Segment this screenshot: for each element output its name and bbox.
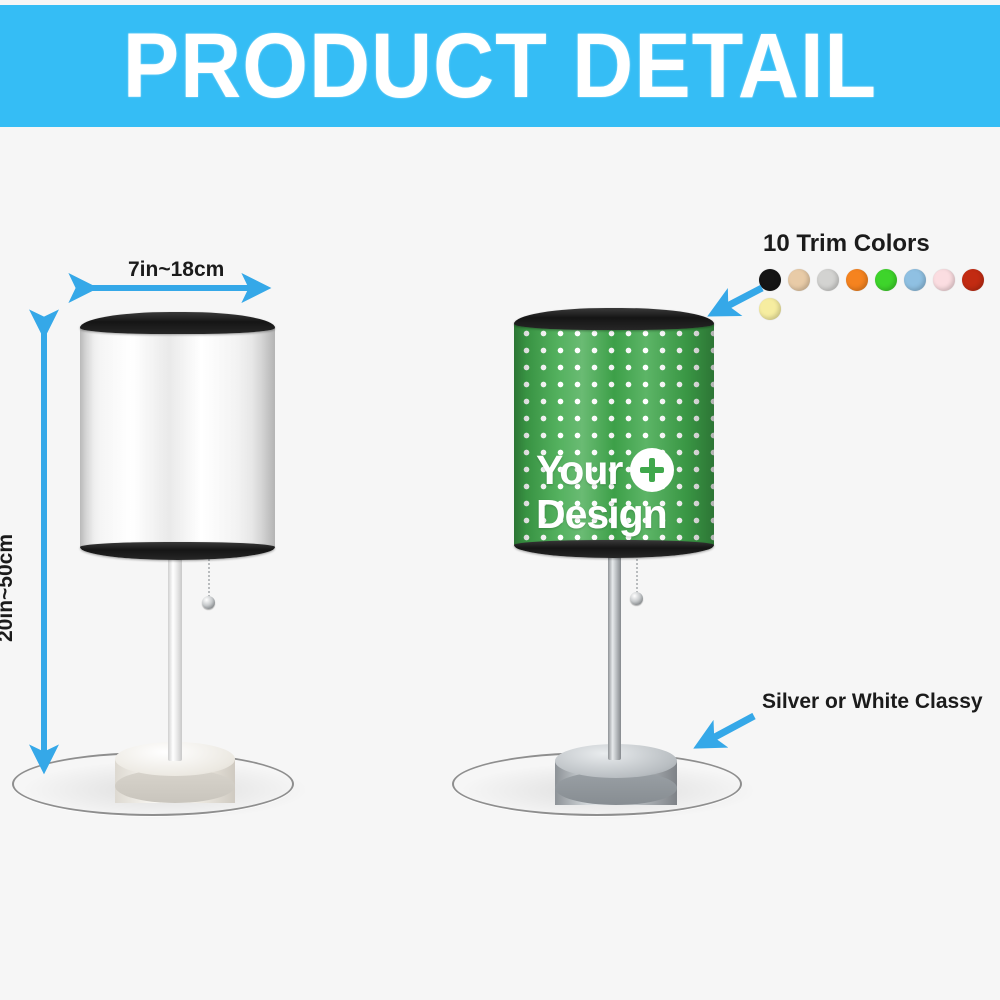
white-shade-trim-top — [80, 312, 275, 334]
shade-highlight — [80, 322, 275, 552]
green-lamp-pull-chain[interactable] — [636, 552, 638, 596]
white-shade-body — [80, 322, 275, 552]
green-shade-trim-bottom — [514, 540, 714, 558]
base-note-label: Silver or White Classy — [762, 690, 983, 714]
green-shade-trim-top — [514, 308, 714, 330]
green-lamp-pole — [608, 552, 621, 760]
white-lamp-pole — [168, 556, 182, 761]
white-lamp-shade — [80, 312, 275, 560]
height-measurement-label: 20in~50cm — [0, 534, 18, 642]
swatch-tan[interactable] — [788, 269, 810, 291]
width-measurement-label: 7in~18cm — [128, 258, 224, 282]
swatch-pink[interactable] — [933, 269, 955, 291]
trim-colors-title: 10 Trim Colors — [763, 230, 930, 258]
swatch-green[interactable] — [875, 269, 897, 291]
swatch-black[interactable] — [759, 269, 781, 291]
swatch-yellow[interactable] — [759, 298, 781, 320]
white-lamp-chain-bead[interactable] — [202, 596, 215, 609]
green-lamp-chain-bead[interactable] — [630, 592, 643, 605]
swatch-light-blue[interactable] — [904, 269, 926, 291]
swatch-dark-red[interactable] — [962, 269, 984, 291]
white-lamp — [0, 0, 330, 1000]
product-detail-image: PRODUCT DETAIL — [0, 0, 1000, 1000]
white-lamp-pull-chain[interactable] — [208, 556, 210, 600]
trim-color-swatches — [759, 269, 1000, 320]
green-lamp-shade: Your Design — [514, 308, 714, 558]
plus-circle-icon — [630, 448, 674, 492]
design-line-1: Your — [536, 450, 622, 490]
green-lamp: Your Design — [440, 0, 780, 1000]
swatch-orange[interactable] — [846, 269, 868, 291]
white-shade-trim-bottom — [80, 542, 275, 560]
your-design-artwork: Your Design — [536, 448, 674, 534]
swatch-light-gray[interactable] — [817, 269, 839, 291]
design-line-1-row: Your — [536, 448, 674, 492]
design-line-2: Design — [536, 494, 674, 534]
